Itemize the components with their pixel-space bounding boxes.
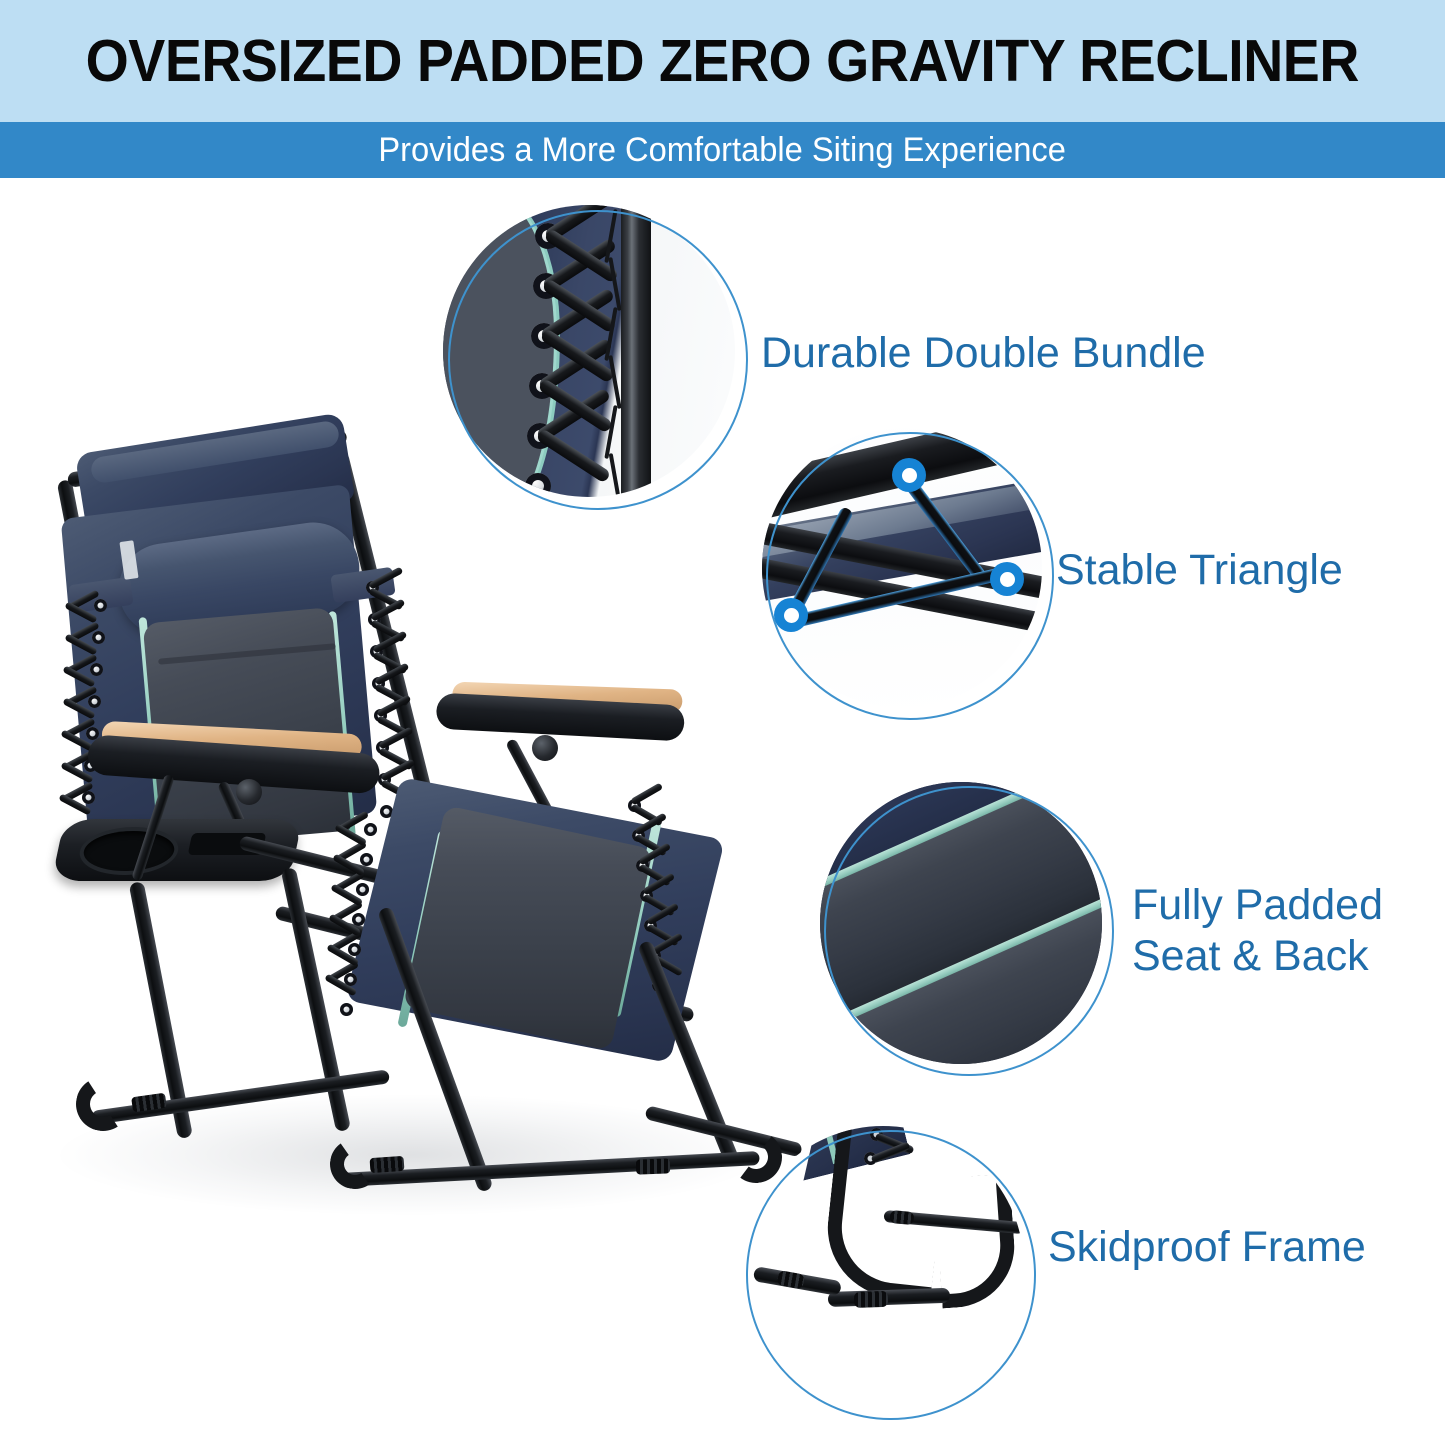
callout-photo-skidproof-frame (742, 1126, 1024, 1408)
skid-grip-bottom (854, 1291, 889, 1308)
lacing-footrest-right (620, 795, 684, 1023)
callout-photo-stable-triangle (762, 428, 1042, 708)
armrest-knob-left (236, 779, 262, 805)
page-title: OVERSIZED PADDED ZERO GRAVITY RECLINER (86, 27, 1359, 95)
triangle-node-right (990, 562, 1024, 596)
product-main-photo (40, 405, 840, 1235)
callout-label-fully-padded: Fully Padded Seat & Back (1132, 880, 1445, 981)
skid-grip-cross (889, 1210, 914, 1225)
callout-label-stable-triangle: Stable Triangle (1056, 545, 1436, 596)
callout-photo-durable-double-bundle (443, 205, 735, 497)
page-subtitle: Provides a More Comfortable Siting Exper… (379, 131, 1067, 170)
fabric-mint-edge (443, 205, 554, 497)
armrest-knob-right (532, 735, 558, 761)
callout-photo-fully-padded (820, 782, 1102, 1064)
callout-label-durable-double-bundle: Durable Double Bundle (761, 328, 1301, 379)
callout-label-skidproof-frame: Skidproof Frame (1048, 1222, 1428, 1273)
padding-stripes-secondary (820, 782, 1102, 1064)
header-subtitle-band: Provides a More Comfortable Siting Exper… (0, 122, 1445, 178)
skid-grip-right (636, 1158, 671, 1174)
armrest-right (427, 672, 693, 769)
skid-grip-mid (370, 1156, 405, 1173)
footrest-charcoal-panel (403, 805, 653, 1051)
triangle-node-top (892, 458, 926, 492)
header-title-band: OVERSIZED PADDED ZERO GRAVITY RECLINER (0, 0, 1445, 122)
triangle-node-left (774, 598, 808, 632)
frame-tube (621, 205, 651, 497)
